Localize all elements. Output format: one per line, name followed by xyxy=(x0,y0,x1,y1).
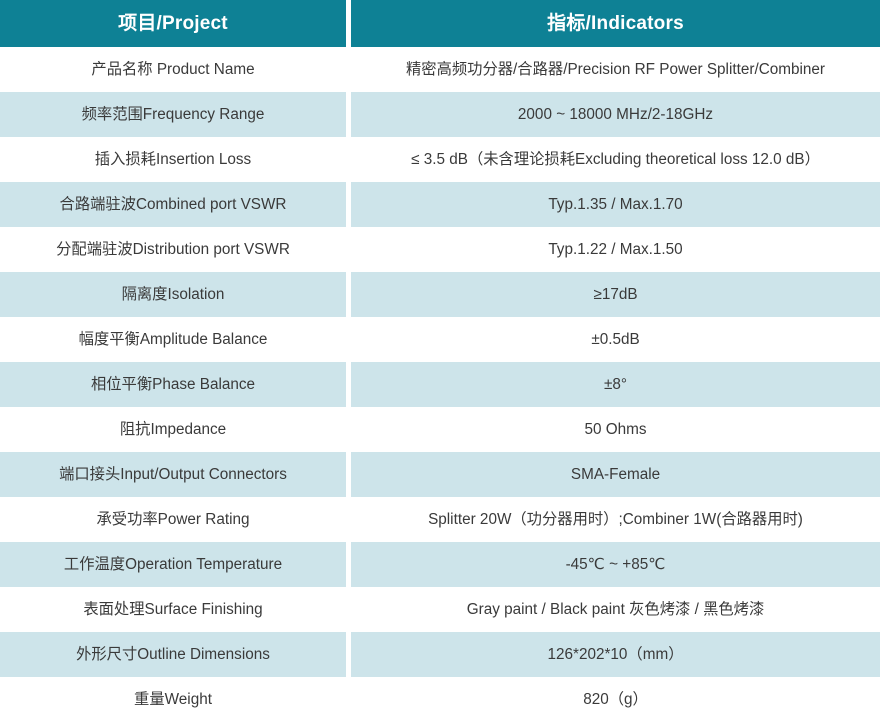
cell-indicator: 126*202*10（mm） xyxy=(351,632,880,677)
table-row: 工作温度Operation Temperature-45℃ ~ +85℃ xyxy=(0,542,880,587)
cell-project: 产品名称 Product Name xyxy=(0,47,346,92)
cell-project: 工作温度Operation Temperature xyxy=(0,542,346,587)
cell-indicator: 820（g） xyxy=(351,677,880,722)
table-header-row: 项目/Project 指标/Indicators xyxy=(0,0,880,47)
cell-project: 承受功率Power Rating xyxy=(0,497,346,542)
cell-project: 合路端驻波Combined port VSWR xyxy=(0,182,346,227)
table-row: 端口接头Input/Output ConnectorsSMA-Female xyxy=(0,452,880,497)
cell-indicator: ≥17dB xyxy=(351,272,880,317)
cell-indicator: Typ.1.22 / Max.1.50 xyxy=(351,227,880,272)
table-row: 相位平衡Phase Balance±8° xyxy=(0,362,880,407)
cell-project: 插入损耗Insertion Loss xyxy=(0,137,346,182)
cell-project: 外形尺寸Outline Dimensions xyxy=(0,632,346,677)
table-row: 承受功率Power RatingSplitter 20W（功分器用时）;Comb… xyxy=(0,497,880,542)
table-row: 阻抗Impedance50 Ohms xyxy=(0,407,880,452)
cell-indicator: 50 Ohms xyxy=(351,407,880,452)
cell-project: 幅度平衡Amplitude Balance xyxy=(0,317,346,362)
table-row: 合路端驻波Combined port VSWRTyp.1.35 / Max.1.… xyxy=(0,182,880,227)
cell-indicator: Typ.1.35 / Max.1.70 xyxy=(351,182,880,227)
table-row: 幅度平衡Amplitude Balance±0.5dB xyxy=(0,317,880,362)
cell-indicator: -45℃ ~ +85℃ xyxy=(351,542,880,587)
table-body: 产品名称 Product Name精密高频功分器/合路器/Precision R… xyxy=(0,47,880,722)
cell-indicator: Gray paint / Black paint 灰色烤漆 / 黑色烤漆 xyxy=(351,587,880,632)
table-row: 隔离度Isolation≥17dB xyxy=(0,272,880,317)
specification-table: 项目/Project 指标/Indicators 产品名称 Product Na… xyxy=(0,0,880,722)
column-header-project: 项目/Project xyxy=(0,0,346,47)
table-row: 产品名称 Product Name精密高频功分器/合路器/Precision R… xyxy=(0,47,880,92)
cell-indicator: 2000 ~ 18000 MHz/2-18GHz xyxy=(351,92,880,137)
cell-indicator: ±8° xyxy=(351,362,880,407)
table-header: 项目/Project 指标/Indicators xyxy=(0,0,880,47)
table-row: 表面处理Surface FinishingGray paint / Black … xyxy=(0,587,880,632)
cell-indicator: SMA-Female xyxy=(351,452,880,497)
cell-project: 隔离度Isolation xyxy=(0,272,346,317)
table-row: 重量Weight820（g） xyxy=(0,677,880,722)
column-header-indicators: 指标/Indicators xyxy=(351,0,880,47)
cell-indicator: Splitter 20W（功分器用时）;Combiner 1W(合路器用时) xyxy=(351,497,880,542)
table-row: 分配端驻波Distribution port VSWRTyp.1.22 / Ma… xyxy=(0,227,880,272)
cell-project: 阻抗Impedance xyxy=(0,407,346,452)
cell-project: 分配端驻波Distribution port VSWR xyxy=(0,227,346,272)
table-row: 频率范围Frequency Range2000 ~ 18000 MHz/2-18… xyxy=(0,92,880,137)
cell-indicator: 精密高频功分器/合路器/Precision RF Power Splitter/… xyxy=(351,47,880,92)
cell-project: 相位平衡Phase Balance xyxy=(0,362,346,407)
cell-project: 表面处理Surface Finishing xyxy=(0,587,346,632)
table-row: 外形尺寸Outline Dimensions126*202*10（mm） xyxy=(0,632,880,677)
table-row: 插入损耗Insertion Loss≤ 3.5 dB（未含理论损耗Excludi… xyxy=(0,137,880,182)
cell-project: 端口接头Input/Output Connectors xyxy=(0,452,346,497)
cell-indicator: ±0.5dB xyxy=(351,317,880,362)
cell-indicator: ≤ 3.5 dB（未含理论损耗Excluding theoretical los… xyxy=(351,137,880,182)
cell-project: 重量Weight xyxy=(0,677,346,722)
cell-project: 频率范围Frequency Range xyxy=(0,92,346,137)
